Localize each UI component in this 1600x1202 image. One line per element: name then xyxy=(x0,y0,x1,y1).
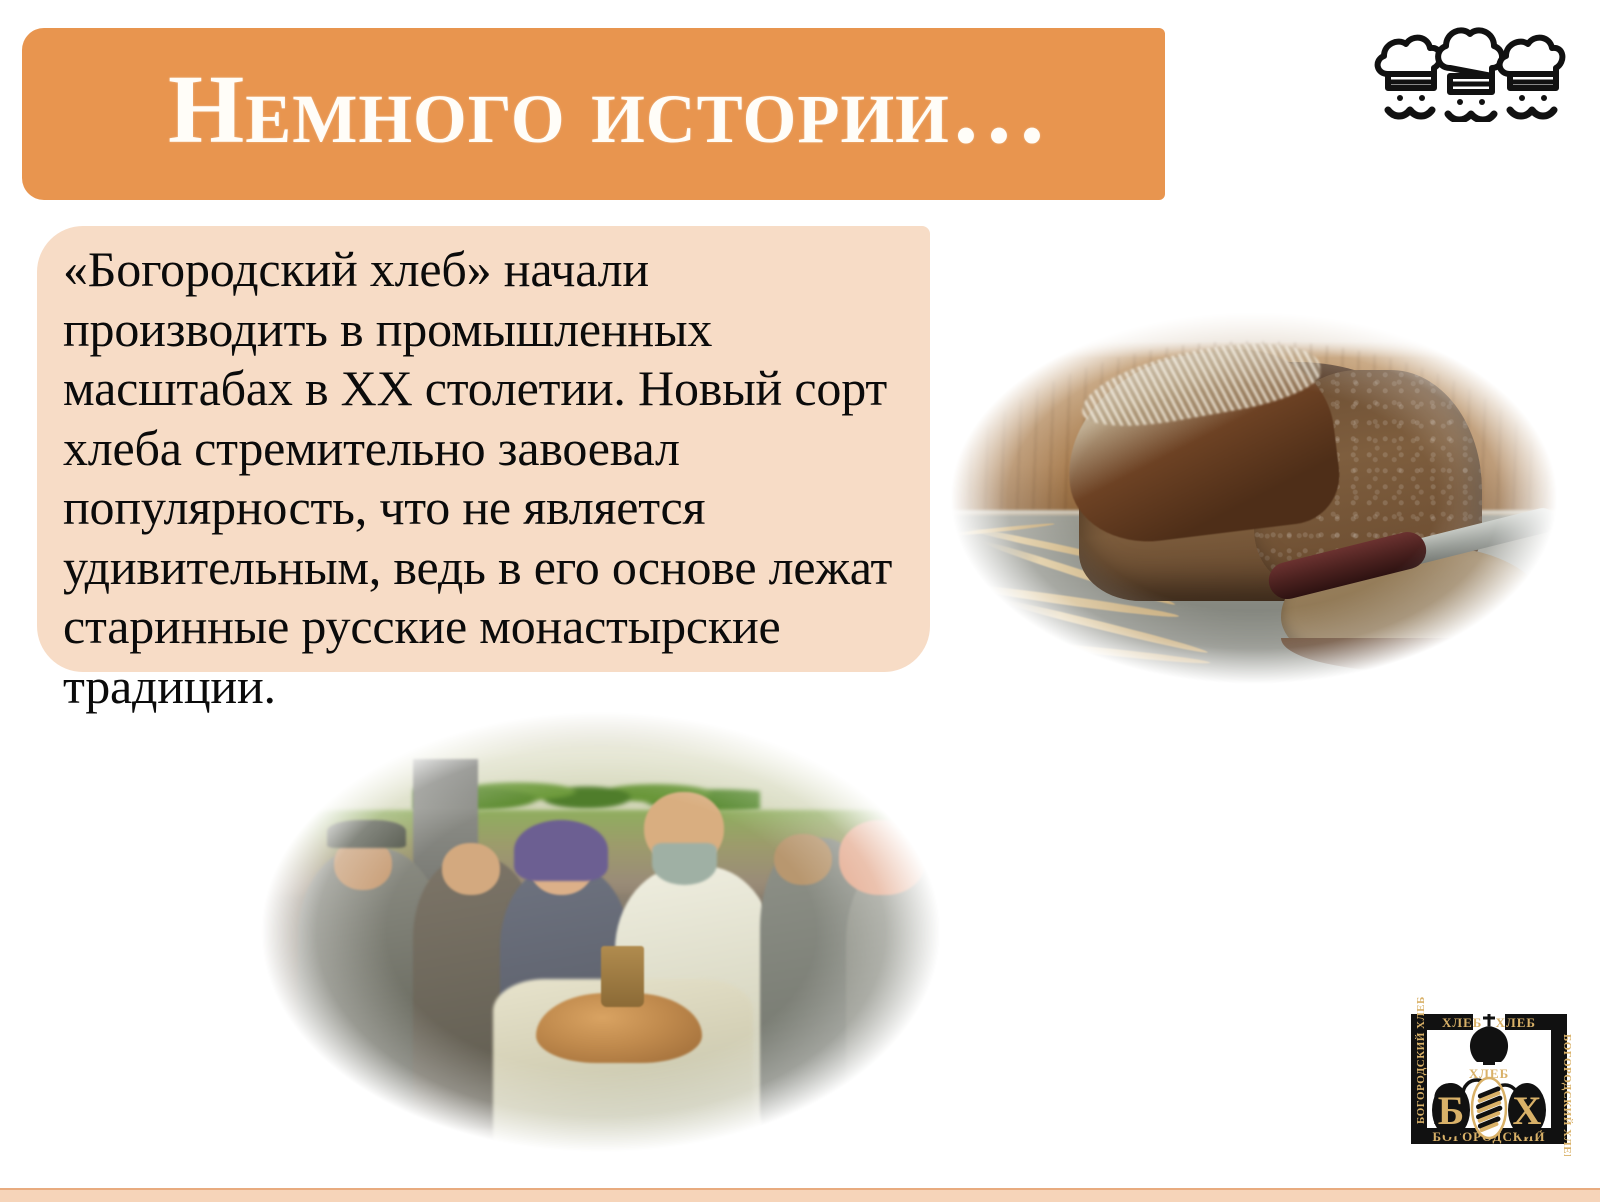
painting-headscarf xyxy=(514,820,608,881)
bogorodsky-hleb-logo: ХЛЕБ ХЛЕБ БОГОРОДСКИЙ БОГОРОДСКИЙ ХЛЕБ Б… xyxy=(1403,996,1575,1156)
logo-monogram-right: Х xyxy=(1513,1088,1542,1133)
khleb-sol-painting xyxy=(240,698,962,1166)
page-title: Немного истории… xyxy=(168,58,1049,162)
three-chef-hats-icon xyxy=(1374,26,1570,122)
painting-face-right-2 xyxy=(839,820,926,895)
painting-vignette xyxy=(240,698,962,1166)
logo-monogram-left: Б xyxy=(1438,1088,1464,1133)
logo-left-side-word: БОГОРОДСКИЙ ХЛЕБ xyxy=(1415,996,1427,1124)
bread-photo-vignette xyxy=(918,292,1590,704)
painting-salt-shaker xyxy=(601,946,644,1007)
painting-face-right-1 xyxy=(774,834,832,885)
logo-top-left-word: ХЛЕБ xyxy=(1442,1015,1482,1030)
logo-right-side-word: БОГОРОДСКИЙ ХЛЕБ xyxy=(1561,1034,1573,1156)
logo-top-right-word: ХЛЕБ xyxy=(1496,1015,1536,1030)
painting-hat-left-man xyxy=(327,820,406,848)
painting-beard xyxy=(652,843,717,885)
body-paragraph: «Богородский хлеб» начали производить в … xyxy=(63,240,908,716)
rye-bread-photo xyxy=(918,292,1590,704)
painting-figure-right-2 xyxy=(846,857,962,1138)
logo-bread-loaf-icon xyxy=(1472,1078,1506,1138)
painting-face-woman-2 xyxy=(442,843,500,894)
